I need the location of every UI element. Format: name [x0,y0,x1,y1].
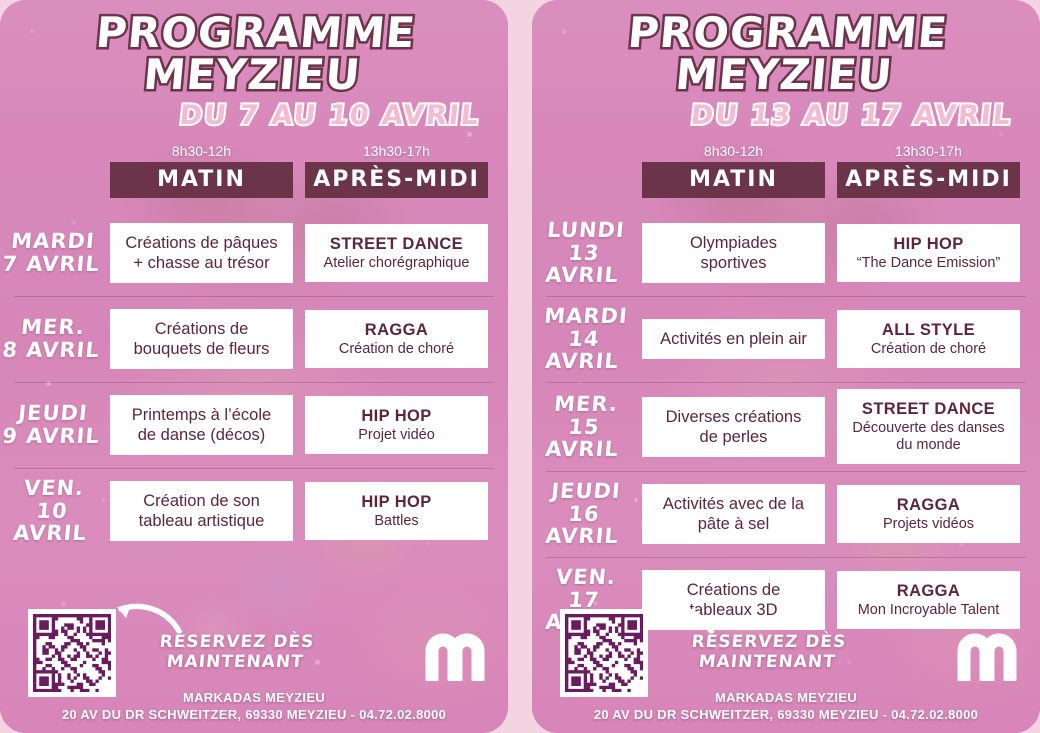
address-block: MARKADAS MEYZIEU 20 AV DU DR SCHWEITZER,… [532,689,1040,723]
activity-title: Activités avec de lapâte à sel [650,494,817,534]
poster-pair: PROGRAMME MEYZIEU DU 7 AU 10 AVRIL 8h30-… [0,0,1040,733]
activity-title: STREET DANCE [313,234,480,254]
schedule-row: JEUDI9 AVRILPrintemps à l’écolede danse … [0,382,494,468]
poster-footer: RÉSERVEZ DÈSMAINTENANT MARKADAS MEYZIEU … [0,595,508,733]
column-time-label: 8h30-12h [642,143,825,159]
activity-subtitle: Découverte des dansesdu monde [845,420,1012,454]
schedule-row: MER.15 AVRILDiverses créationsde perlesS… [532,382,1026,471]
page-title: PROGRAMME MEYZIEU [0,12,508,96]
column-header-morning: 8h30-12hMATIN [110,143,293,198]
activity-subtitle: Projets vidéos [845,516,1012,533]
activity-cell-morning[interactable]: Olympiadessportives [642,223,825,283]
date-range-subtitle: DU 7 AU 10 AVRIL [0,102,481,129]
activity-subtitle: Création de choré [845,341,1012,358]
markadas-m-logo-icon [424,629,486,681]
activity-cell-morning[interactable]: Création de sontableau artistique [110,481,293,541]
date-range-subtitle: DU 13 AU 17 AVRIL [532,102,1013,129]
activity-cell-afternoon[interactable]: RAGGAProjets vidéos [837,485,1020,543]
activity-subtitle: Projet vidéo [313,427,480,444]
day-column-spacer [0,143,104,198]
day-label: JEUDI16 AVRIL [532,480,639,548]
poster-footer: RÉSERVEZ DÈSMAINTENANT MARKADAS MEYZIEU … [532,595,1040,733]
day-column-spacer [532,143,636,198]
schedule-row: MARDI7 AVRILCréations de pâques+ chasse … [0,210,494,296]
schedule-row: MARDI14 AVRILActivités en plein airALL S… [532,296,1026,382]
address-line: 20 AV DU DR SCHWEITZER, 69330 MEYZIEU - … [532,706,1040,723]
day-label: VEN.10 AVRIL [0,477,107,545]
schedule-rows: LUNDI13 AVRILOlympiadessportivesHIP HOP“… [532,210,1040,643]
activity-title: HIP HOP [313,492,480,512]
column-title-band: MATIN [642,162,825,198]
column-time-label: 13h30-17h [305,143,488,159]
program-poster-2: PROGRAMME MEYZIEU DU 13 AU 17 AVRIL 8h30… [532,0,1040,733]
activity-title: HIP HOP [313,406,480,426]
column-title-band: APRÈS-MIDI [837,162,1020,198]
activity-cell-morning[interactable]: Diverses créationsde perles [642,397,825,457]
schedule-row: JEUDI16 AVRILActivités avec de lapâte à … [532,471,1026,557]
activity-title: RAGGA [845,495,1012,515]
column-time-label: 8h30-12h [110,143,293,159]
activity-subtitle: Atelier chorégraphique [313,255,480,272]
column-header-morning: 8h30-12hMATIN [642,143,825,198]
markadas-m-logo-icon [956,629,1018,681]
activity-cell-afternoon[interactable]: ALL STYLECréation de choré [837,310,1020,368]
day-label: MER.8 AVRIL [0,316,106,361]
activity-title: Créations debouquets de fleurs [118,319,285,359]
column-title-band: APRÈS-MIDI [305,162,488,198]
activity-title: RAGGA [313,320,480,340]
activity-title: Création de sontableau artistique [118,491,285,531]
activity-title: Diverses créationsde perles [650,407,817,447]
curved-arrow-icon [113,601,183,635]
schedule-rows: MARDI7 AVRILCréations de pâques+ chasse … [0,210,508,554]
column-headers: 8h30-12hMATIN13h30-17hAPRÈS-MIDI [0,143,508,198]
column-headers: 8h30-12hMATIN13h30-17hAPRÈS-MIDI [532,143,1040,198]
org-name: MARKADAS MEYZIEU [532,689,1040,706]
activity-title: Créations de pâques+ chasse au trésor [118,233,285,273]
day-label: MER.15 AVRIL [532,393,639,461]
activity-subtitle: Création de choré [313,341,480,358]
reserve-callout: RÉSERVEZ DÈSMAINTENANT [666,633,869,672]
activity-cell-morning[interactable]: Printemps à l’écolede danse (décos) [110,395,293,455]
schedule-row: VEN.10 AVRILCréation de sontableau artis… [0,468,494,554]
activity-title: ALL STYLE [845,320,1012,340]
activity-cell-afternoon[interactable]: HIP HOPBattles [305,482,488,540]
activity-title: Olympiadessportives [650,233,817,273]
activity-cell-afternoon[interactable]: RAGGACréation de choré [305,310,488,368]
address-block: MARKADAS MEYZIEU 20 AV DU DR SCHWEITZER,… [0,689,508,723]
activity-subtitle: “The Dance Emission” [845,255,1012,272]
activity-cell-morning[interactable]: Activités avec de lapâte à sel [642,484,825,544]
activity-cell-morning[interactable]: Créations de pâques+ chasse au trésor [110,223,293,283]
curved-arrow-icon [645,601,715,635]
org-name: MARKADAS MEYZIEU [0,689,508,706]
activity-cell-afternoon[interactable]: STREET DANCEDécouverte des dansesdu mond… [837,389,1020,464]
day-label: MARDI14 AVRIL [532,305,639,373]
qr-code[interactable] [28,609,116,697]
address-line: 20 AV DU DR SCHWEITZER, 69330 MEYZIEU - … [0,706,508,723]
day-label: MARDI7 AVRIL [0,230,106,275]
day-label: JEUDI9 AVRIL [0,402,106,447]
column-header-afternoon: 13h30-17hAPRÈS-MIDI [305,143,488,198]
activity-title: Printemps à l’écolede danse (décos) [118,405,285,445]
activity-title: STREET DANCE [845,399,1012,419]
activity-title: HIP HOP [845,234,1012,254]
column-time-label: 13h30-17h [837,143,1020,159]
schedule-row: MER.8 AVRILCréations debouquets de fleur… [0,296,494,382]
reserve-callout: RÉSERVEZ DÈSMAINTENANT [134,633,337,672]
schedule-row: LUNDI13 AVRILOlympiadessportivesHIP HOP“… [532,210,1026,296]
column-header-afternoon: 13h30-17hAPRÈS-MIDI [837,143,1020,198]
day-label: LUNDI13 AVRIL [532,219,639,287]
page-title: PROGRAMME MEYZIEU [532,12,1040,96]
activity-cell-morning[interactable]: Activités en plein air [642,319,825,359]
activity-subtitle: Battles [313,513,480,530]
column-title-band: MATIN [110,162,293,198]
activity-cell-afternoon[interactable]: HIP HOPProjet vidéo [305,396,488,454]
activity-cell-morning[interactable]: Créations debouquets de fleurs [110,309,293,369]
qr-code[interactable] [560,609,648,697]
activity-title: Activités en plein air [650,329,817,349]
activity-cell-afternoon[interactable]: STREET DANCEAtelier chorégraphique [305,224,488,282]
program-poster-1: PROGRAMME MEYZIEU DU 7 AU 10 AVRIL 8h30-… [0,0,508,733]
activity-cell-afternoon[interactable]: HIP HOP“The Dance Emission” [837,224,1020,282]
